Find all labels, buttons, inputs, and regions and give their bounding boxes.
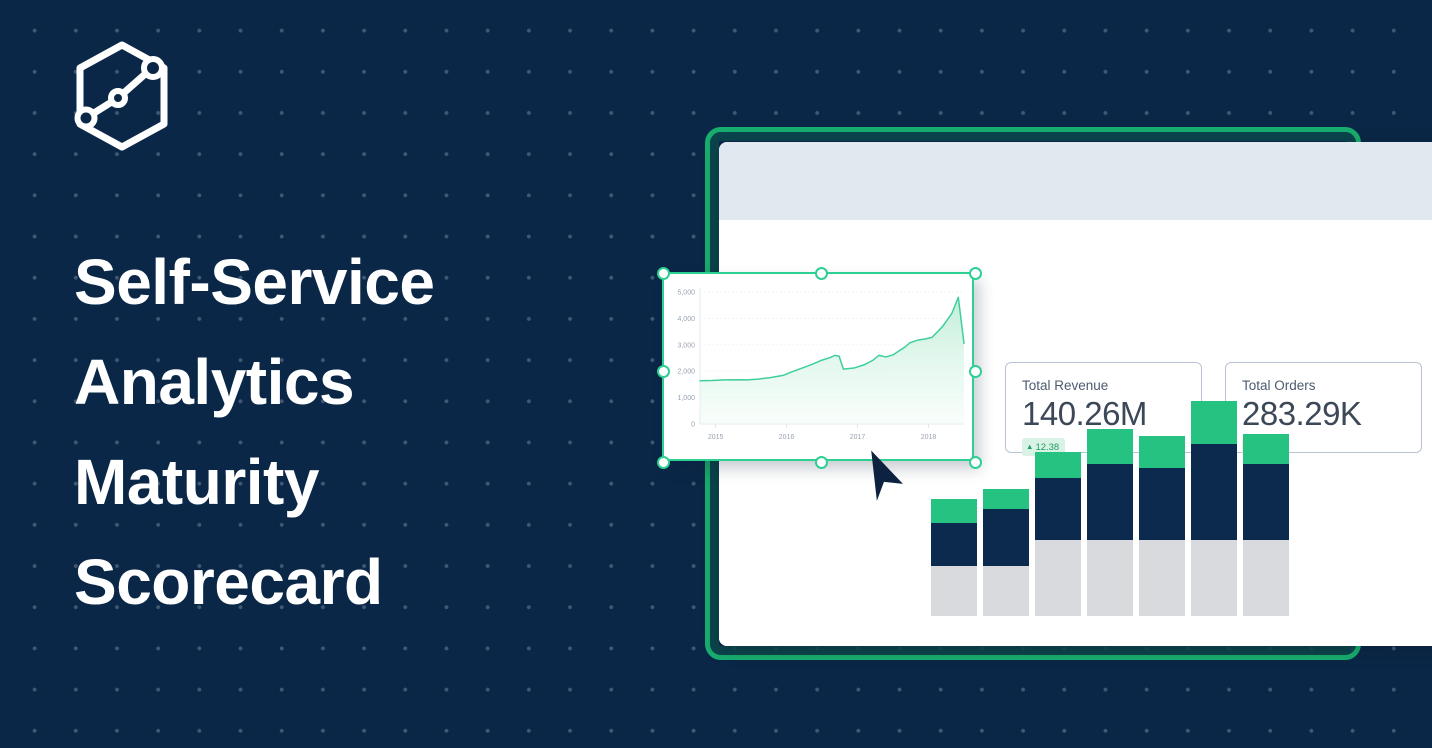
resize-handle-middle-left[interactable] [657, 365, 670, 378]
window-titlebar [719, 142, 1432, 220]
kpi-value: 140.26M [1022, 394, 1185, 434]
bar-segment-base [1035, 540, 1081, 616]
bar-segment-top [1035, 452, 1081, 478]
bar-segment-middle [1243, 464, 1289, 540]
bar-segment-middle [983, 509, 1029, 566]
bar-segment-base [931, 566, 977, 616]
bar-segment-base [1087, 540, 1133, 616]
bar-column[interactable] [931, 499, 977, 616]
y-axis-tick-label: 3,000 [677, 342, 695, 349]
kpi-label: Total Orders [1242, 377, 1405, 395]
arrow-up-icon: ▲ [1026, 442, 1033, 451]
bar-segment-base [1243, 540, 1289, 616]
bar-column[interactable] [1087, 429, 1133, 616]
y-axis-tick-label: 5,000 [677, 290, 695, 297]
area-fill [700, 297, 964, 424]
hexagon-line-chart-logo-icon [72, 40, 172, 152]
bar-segment-middle [931, 523, 977, 566]
bar-segment-middle [1139, 468, 1185, 540]
y-axis-tick-label: 4,000 [677, 316, 695, 323]
page-title-line-2: Analytics [74, 332, 634, 432]
kpi-value: 283.29K [1242, 394, 1405, 434]
x-axis-tick-label: 2015 [708, 434, 724, 441]
bar-segment-top [1191, 401, 1237, 444]
bar-segment-top [1139, 436, 1185, 468]
x-axis-tick-label: 2016 [779, 434, 795, 441]
resize-handle-bottom-center[interactable] [815, 456, 828, 469]
bar-segment-middle [1035, 478, 1081, 540]
resize-handle-middle-right[interactable] [969, 365, 982, 378]
left-panel: Self-Service Analytics Maturity Scorecar… [0, 0, 660, 748]
page-title-line-4: Scorecard [74, 532, 634, 632]
x-axis-tick-label: 2017 [850, 434, 866, 441]
bar-segment-middle [1087, 464, 1133, 540]
bar-column[interactable] [983, 489, 1029, 616]
stacked-bar-chart[interactable] [931, 451, 1361, 616]
area-chart-svg: 01,0002,0003,0004,0005,00020152016201720… [664, 274, 976, 463]
y-axis-tick-label: 1,000 [677, 395, 695, 402]
bar-segment-base [1191, 540, 1237, 616]
resize-handle-top-center[interactable] [815, 267, 828, 280]
resize-handle-top-right[interactable] [969, 267, 982, 280]
y-axis-tick-label: 2,000 [677, 369, 695, 376]
bar-segment-top [983, 489, 1029, 509]
bar-column[interactable] [1243, 434, 1289, 616]
resize-handle-top-left[interactable] [657, 267, 670, 280]
bar-segment-base [1139, 540, 1185, 616]
bar-column[interactable] [1035, 452, 1081, 616]
resize-handle-bottom-right[interactable] [969, 456, 982, 469]
x-axis-tick-label: 2018 [921, 434, 937, 441]
bar-segment-top [931, 499, 977, 523]
bar-column[interactable] [1139, 436, 1185, 616]
arrow-pointer-cursor [858, 450, 912, 504]
resize-handle-bottom-left[interactable] [657, 456, 670, 469]
y-axis-tick-label: 0 [691, 422, 695, 429]
bar-segment-top [1243, 434, 1289, 464]
bar-column[interactable] [1191, 401, 1237, 616]
page-title-line-1: Self-Service [74, 232, 634, 332]
page-title-line-3: Maturity [74, 432, 634, 532]
page-title: Self-Service Analytics Maturity Scorecar… [74, 232, 634, 632]
bar-segment-middle [1191, 444, 1237, 540]
bar-segment-base [983, 566, 1029, 616]
bar-segment-top [1087, 429, 1133, 464]
kpi-label: Total Revenue [1022, 377, 1185, 395]
area-chart-widget[interactable]: 01,0002,0003,0004,0005,00020152016201720… [662, 272, 974, 461]
